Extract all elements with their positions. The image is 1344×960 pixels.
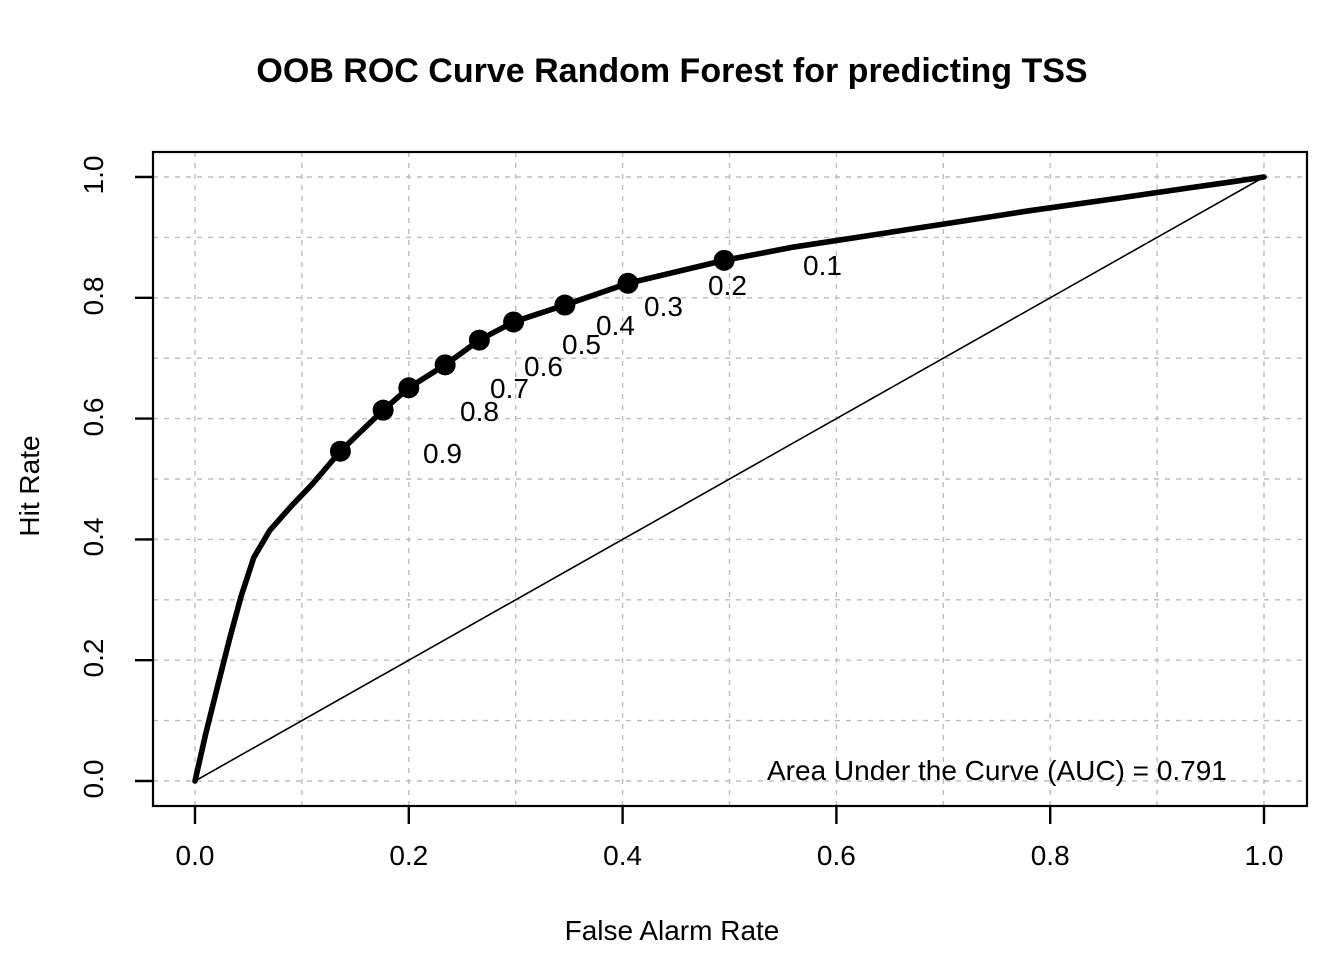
roc-plot — [0, 0, 1344, 960]
axis-ticks — [135, 177, 1264, 824]
y-axis-title: Hit Rate — [14, 386, 46, 586]
threshold-label: 0.9 — [423, 438, 462, 470]
threshold-point-marker — [330, 441, 351, 462]
threshold-label: 0.4 — [596, 310, 635, 342]
threshold-point-marker — [617, 273, 638, 294]
threshold-label: 0.3 — [644, 291, 683, 323]
x-axis-tick-label: 0.2 — [364, 840, 454, 872]
threshold-label: 0.1 — [803, 250, 842, 282]
threshold-point-marker — [469, 330, 490, 351]
threshold-point-marker — [398, 377, 419, 398]
y-axis-tick-label: 0.0 — [78, 734, 110, 824]
threshold-label: 0.2 — [708, 270, 747, 302]
threshold-point-marker — [435, 354, 456, 375]
auc-annotation: Area Under the Curve (AUC) = 0.791 — [767, 755, 1227, 787]
y-axis-tick-label: 0.4 — [78, 492, 110, 582]
y-axis-tick-label: 0.8 — [78, 251, 110, 341]
threshold-label: 0.6 — [524, 351, 563, 383]
x-axis-tick-label: 0.4 — [578, 840, 668, 872]
x-axis-tick-label: 0.0 — [150, 840, 240, 872]
chart-canvas: OOB ROC Curve Random Forest for predicti… — [0, 0, 1344, 960]
threshold-point-marker — [714, 250, 735, 271]
y-axis-tick-label: 1.0 — [78, 130, 110, 220]
threshold-point-marker — [373, 400, 394, 421]
y-axis-tick-label: 0.2 — [78, 613, 110, 703]
threshold-point-marker — [503, 311, 524, 332]
y-axis-tick-label: 0.6 — [78, 372, 110, 462]
x-axis-title: False Alarm Rate — [0, 915, 1344, 947]
threshold-point-marker — [554, 295, 575, 316]
x-axis-tick-label: 1.0 — [1219, 840, 1309, 872]
x-axis-tick-label: 0.6 — [791, 840, 881, 872]
x-axis-tick-label: 0.8 — [1005, 840, 1095, 872]
